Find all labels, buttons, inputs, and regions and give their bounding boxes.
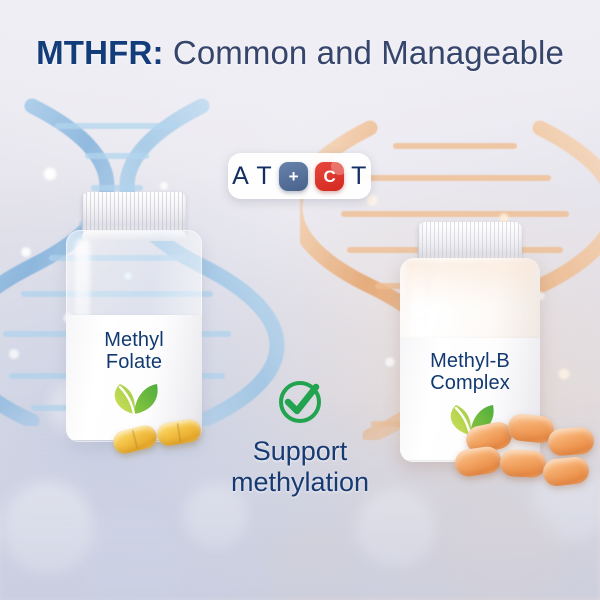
label-line2-right: Complex — [430, 372, 510, 394]
gene-letter-a: A — [232, 164, 249, 189]
bottle-cap-right — [418, 222, 522, 262]
leaf-icon — [108, 381, 160, 420]
title-subtitle: Common and Manageable — [173, 34, 564, 71]
bottle-shoulder-right — [406, 260, 534, 306]
benefit-line1: Support — [253, 436, 348, 466]
label-line1-left: Methyl — [104, 329, 164, 351]
bottle-body-left: Methyl Folate — [66, 230, 202, 442]
label-title-left: Methyl Folate — [104, 329, 164, 374]
poster-canvas: MTHFR: Common and Manageable A T + C T M… — [0, 0, 600, 600]
label-line1-right: Methyl-B — [430, 350, 510, 372]
gene-letter-t-second: T — [351, 164, 367, 189]
c-chip-icon: C — [315, 162, 344, 191]
label-line2-left: Folate — [106, 351, 162, 373]
plus-glyph: + — [289, 168, 299, 185]
plus-chip-icon: + — [279, 162, 308, 191]
benefit-line2: methylation — [231, 467, 369, 497]
c-glyph: C — [323, 168, 335, 185]
gene-letter-t-first: T — [256, 164, 272, 189]
page-title: MTHFR: Common and Manageable — [0, 36, 600, 69]
bottle-cap-left — [82, 192, 186, 234]
benefit-caption: Support methylation — [0, 436, 600, 499]
title-brand: MTHFR: — [36, 34, 164, 71]
product-bottle-methyl-folate: Methyl Folate — [66, 192, 202, 442]
gene-sequence-badge: A T + C T — [228, 153, 371, 199]
check-circle-icon — [275, 376, 325, 426]
label-title-right: Methyl-B Complex — [430, 350, 510, 395]
